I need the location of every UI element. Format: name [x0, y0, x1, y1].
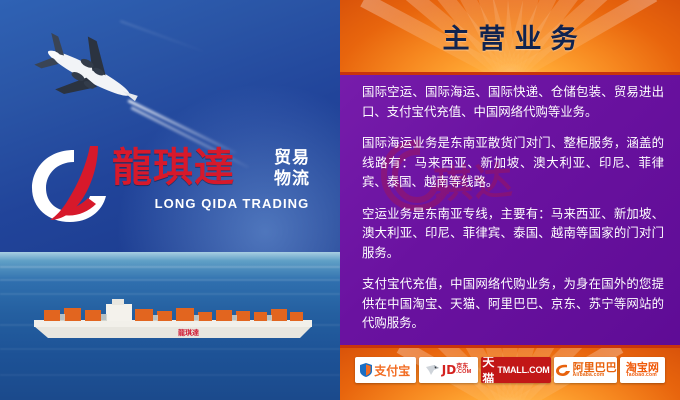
paragraph-1: 国际空运、国际海运、国际快递、仓储包装、贸易进出口、支付宝代充值、中国网络代购等…: [362, 82, 664, 121]
jd-dog-icon: [425, 364, 440, 377]
taobao-label-en: Taobao.com: [626, 373, 657, 378]
partner-logo-alibaba[interactable]: 阿里巴巴 Alibaba.com: [554, 357, 616, 383]
logo-swirl-icon: [28, 144, 120, 226]
airplane-icon: [30, 30, 150, 120]
tmall-label-en: TMALL.COM: [497, 365, 549, 375]
partner-logo-jd[interactable]: JD 京东 .COM: [419, 357, 478, 383]
alipay-label: 支付宝: [374, 362, 410, 379]
promotional-banner: 龍琪達 龍琪達 贸易 物流 LONG QIDA TRADING: [0, 0, 680, 400]
partner-logo-alipay[interactable]: 支付宝: [355, 357, 416, 383]
partner-logo-tmall[interactable]: 天猫 TMALL.COM: [481, 357, 552, 383]
logo-badge-line1: 贸易: [264, 148, 320, 169]
logo-english-name: LONG QIDA TRADING: [140, 196, 324, 211]
company-logo: 龍琪達 贸易 物流 LONG QIDA TRADING: [28, 140, 328, 235]
logo-badge: 贸易 物流: [264, 148, 320, 192]
partner-logo-strip: 支付宝 JD 京东 .COM 天猫 TMALL.COM: [355, 357, 665, 383]
tmall-label-cn: 天猫: [482, 357, 494, 383]
logo-chinese-name: 龍琪達: [112, 146, 235, 190]
partner-logo-taobao[interactable]: 淘宝网 Taobao.com: [620, 357, 665, 383]
right-content-panel: 主营业务 琪达 国际空运、国际海运、国际快递、仓储包装、贸易进出口、支付宝代充值…: [340, 0, 680, 400]
container-ship-photo: 龍琪達: [0, 252, 340, 400]
alipay-shield-icon: [360, 363, 372, 377]
left-image-column: 龍琪達 龍琪達 贸易 物流 LONG QIDA TRADING: [0, 0, 340, 400]
alibaba-swirl-icon: [555, 363, 571, 377]
logo-badge-line2: 物流: [264, 169, 320, 190]
alibaba-label-en: Alibaba.com: [573, 373, 605, 378]
page-title: 主营业务: [340, 17, 680, 56]
paragraph-2: 国际海运业务是东南亚散货门对门、整柜服务，涵盖的线路有：马来西亚、新加坡、澳大利…: [362, 133, 664, 192]
svg-text:龍琪達: 龍琪達: [178, 328, 199, 337]
cargo-ship-icon: 龍琪達: [28, 296, 318, 342]
jd-label-en: .COM: [456, 370, 471, 376]
paragraph-3: 空运业务是东南亚专线，主要有：马来西亚、新加坡、澳大利亚、印尼、菲律宾、泰国、越…: [362, 204, 664, 263]
paragraph-4: 支付宝代充值，中国网络代购业务，为身在国外的您提供在中国淘宝、天猫、阿里巴巴、京…: [362, 274, 664, 333]
jd-label: JD: [442, 363, 456, 377]
business-description: 国际空运、国际海运、国际快递、仓储包装、贸易进出口、支付宝代充值、中国网络代购等…: [362, 82, 664, 345]
